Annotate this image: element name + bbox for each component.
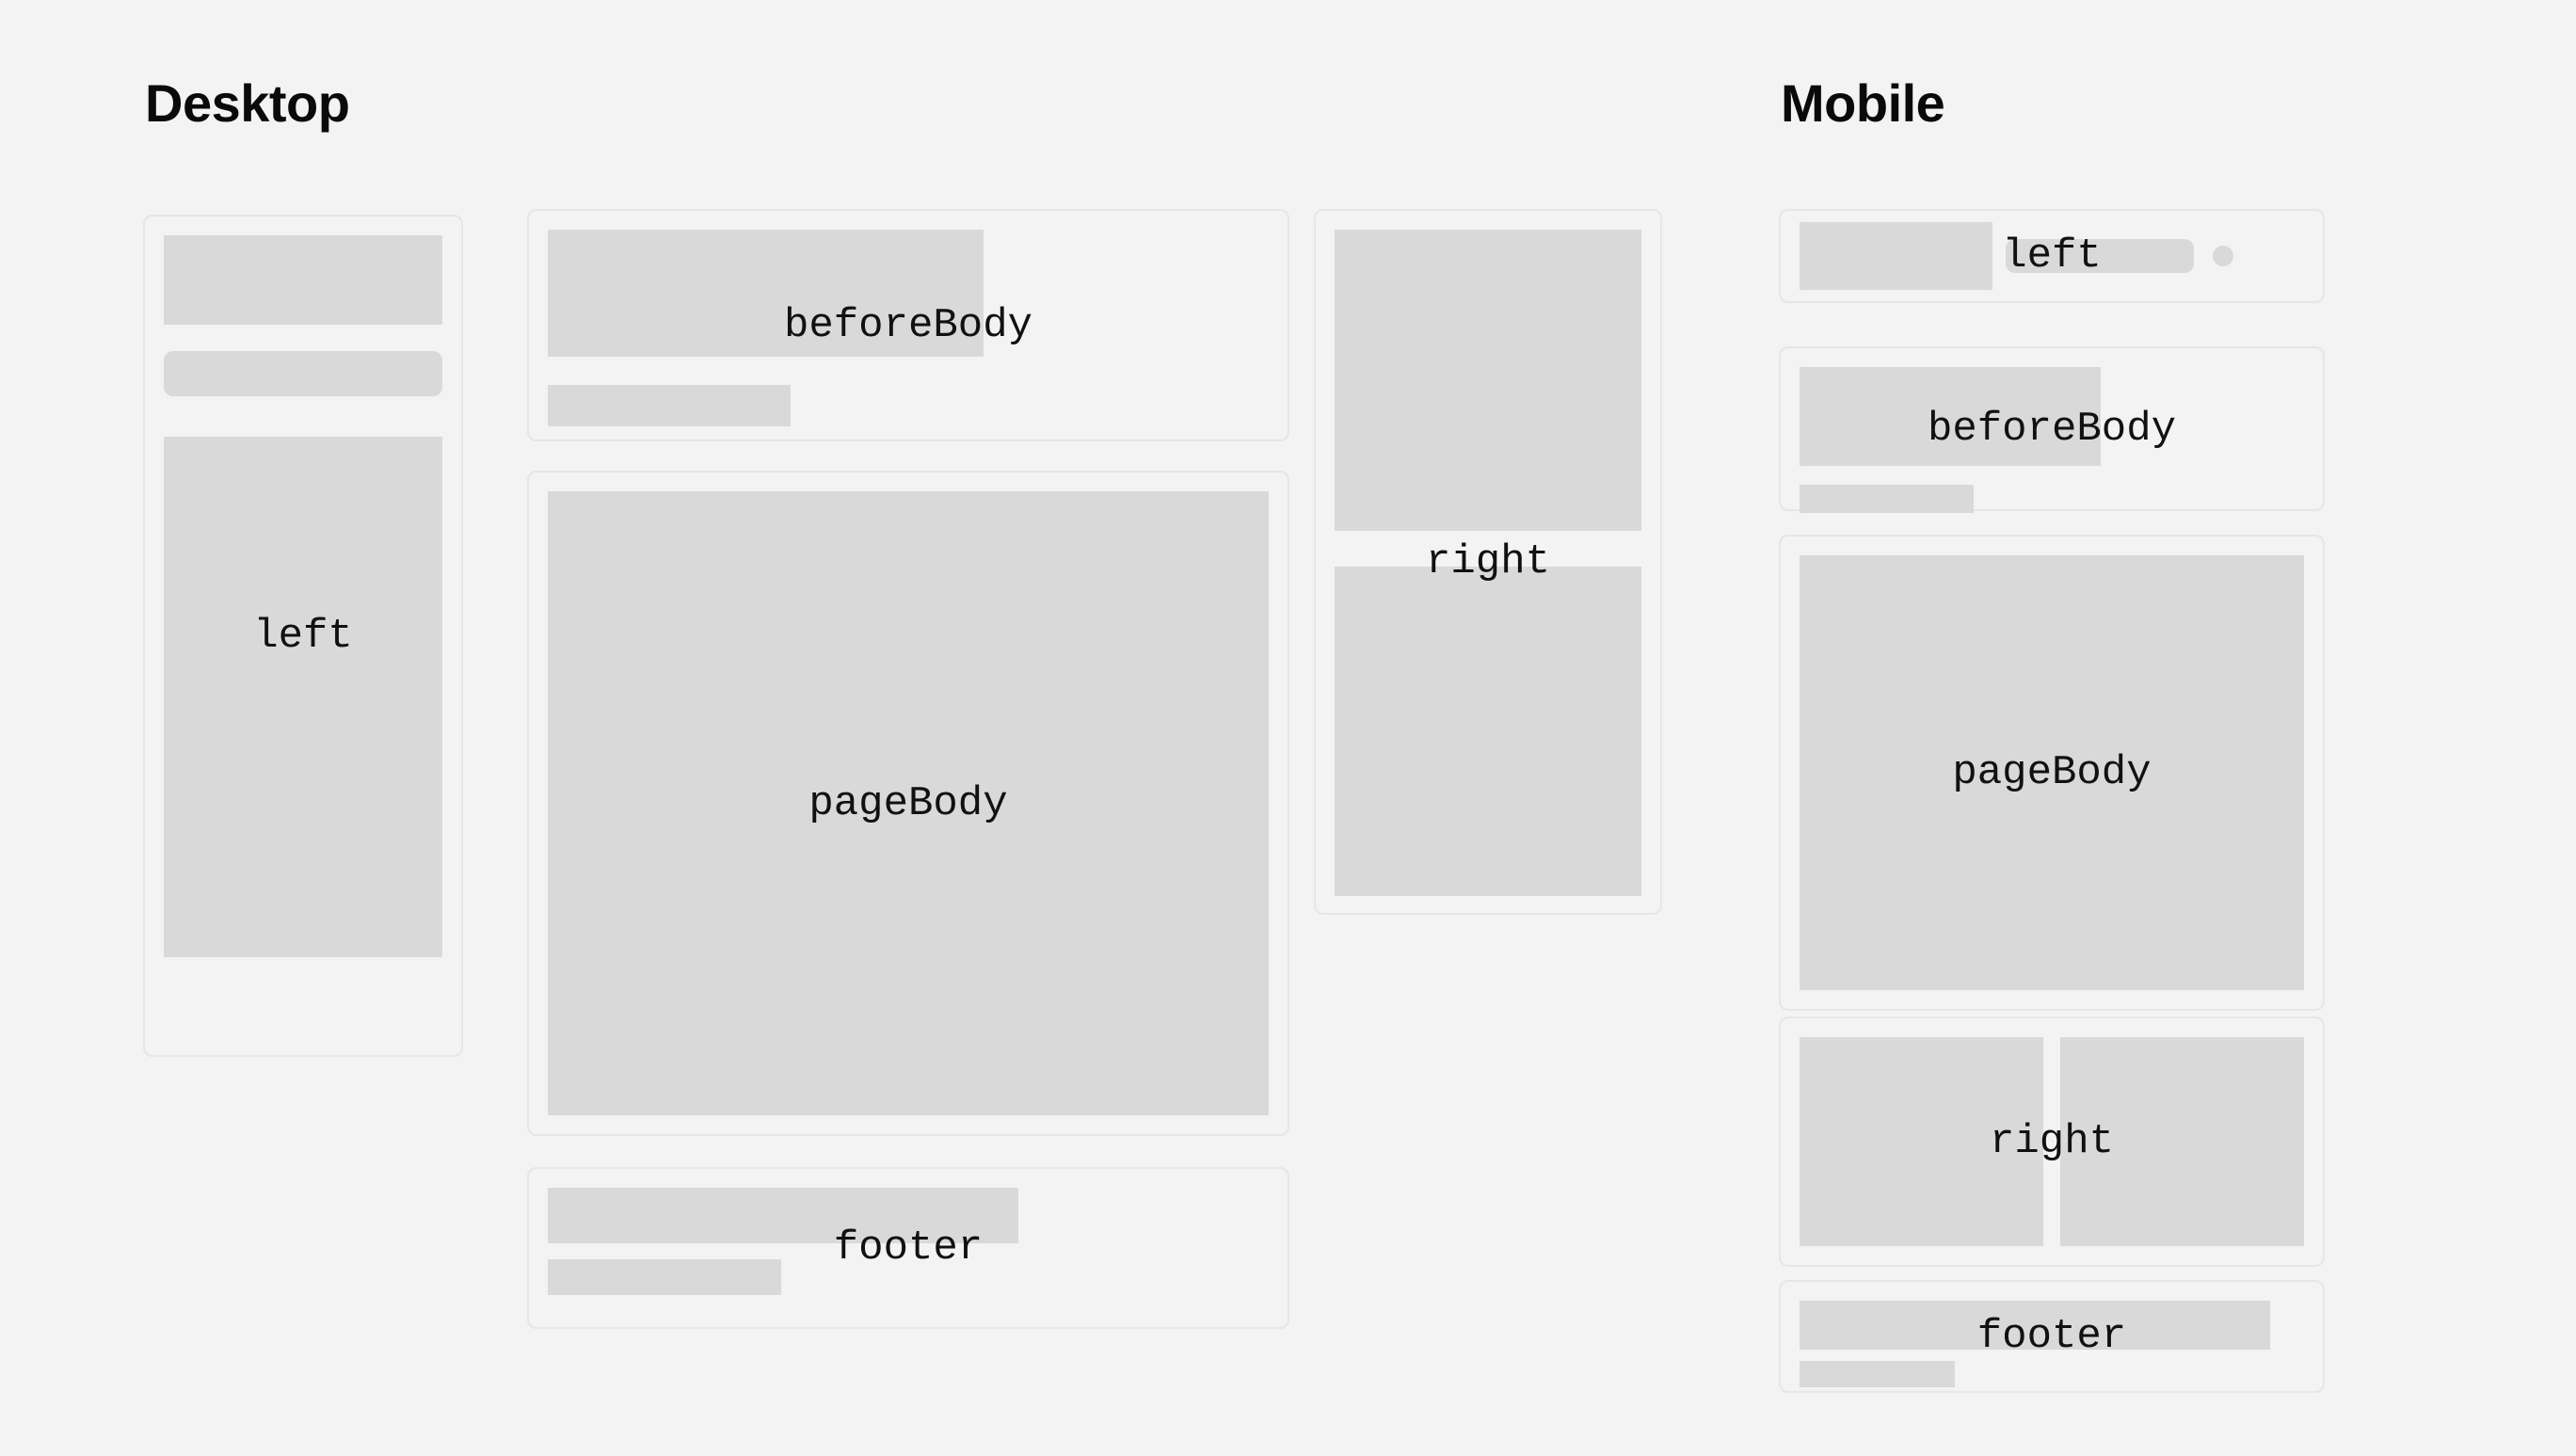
skeleton-bar-subheader xyxy=(2006,239,2194,273)
skeleton-block-primary xyxy=(1800,1301,2270,1350)
skeleton-block-primary xyxy=(548,491,1269,1115)
skeleton-block-header xyxy=(164,235,442,325)
skeleton-block-header xyxy=(1800,222,1992,290)
mobile-slot-left[interactable]: left xyxy=(1779,209,2325,303)
desktop-slot-before-body[interactable]: beforeBody xyxy=(527,209,1289,441)
mobile-slot-footer[interactable]: footer xyxy=(1779,1280,2325,1393)
skeleton-block-left-column xyxy=(1800,1037,2043,1246)
skeleton-block-right-column xyxy=(2060,1037,2304,1246)
skeleton-block-body xyxy=(164,437,442,957)
skeleton-block-primary xyxy=(1800,555,2304,990)
mobile-slot-before-body[interactable]: beforeBody xyxy=(1779,346,2325,511)
mobile-slot-right[interactable]: right xyxy=(1779,1016,2325,1267)
mobile-slot-page-body[interactable]: pageBody xyxy=(1779,535,2325,1011)
skeleton-block-top xyxy=(1335,230,1641,531)
desktop-slot-left[interactable]: left xyxy=(143,215,463,1057)
skeleton-block-secondary xyxy=(1800,485,1974,513)
skeleton-block-primary xyxy=(1800,367,2101,466)
wireframe-canvas: Desktop left beforeBody pageBody right f… xyxy=(0,0,2576,1456)
skeleton-block-secondary xyxy=(548,385,791,426)
skeleton-block-secondary xyxy=(1800,1361,1955,1387)
skeleton-bar-subheader xyxy=(164,351,442,396)
desktop-slot-footer[interactable]: footer xyxy=(527,1167,1289,1329)
section-title-mobile: Mobile xyxy=(1781,77,1944,130)
skeleton-block-bottom xyxy=(1335,567,1641,896)
skeleton-avatar-circle xyxy=(2213,246,2233,266)
skeleton-block-primary xyxy=(548,230,984,357)
skeleton-block-secondary xyxy=(548,1259,781,1295)
desktop-slot-right[interactable]: right xyxy=(1314,209,1662,915)
desktop-slot-page-body[interactable]: pageBody xyxy=(527,471,1289,1136)
section-title-desktop: Desktop xyxy=(145,77,349,130)
skeleton-block-primary xyxy=(548,1188,1018,1243)
